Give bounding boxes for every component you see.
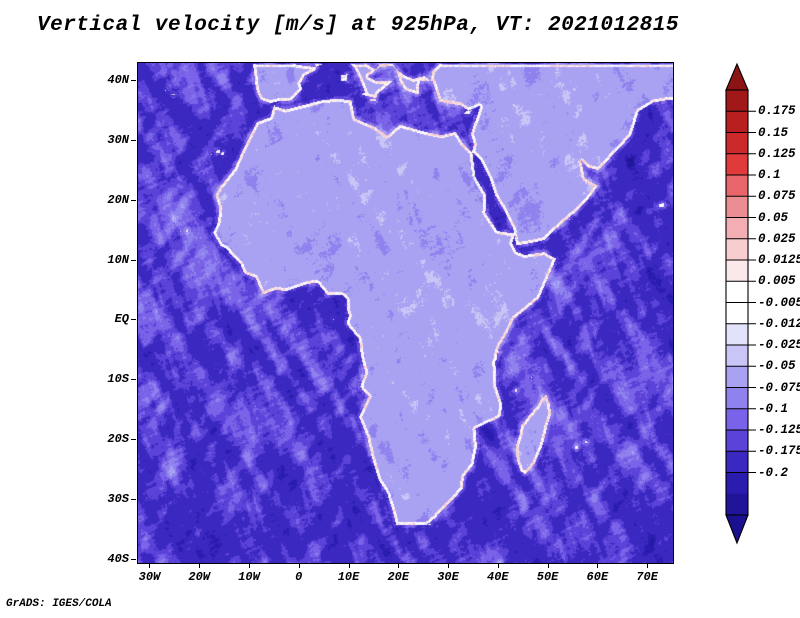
y-axis-label: 30S: [85, 492, 129, 506]
y-axis-label: 30N: [85, 133, 129, 147]
colorbar-label: -0.075: [758, 381, 800, 395]
colorbar-segment: [726, 239, 748, 261]
y-axis-label: 10S: [85, 372, 129, 386]
colorbar-label: -0.175: [758, 444, 800, 458]
colorbar-segment: [726, 451, 748, 473]
colorbar-segment: [726, 133, 748, 155]
x-axis-tick: [249, 563, 250, 568]
y-axis-tick: [131, 200, 136, 201]
x-axis-tick: [199, 563, 200, 568]
x-axis-tick: [398, 563, 399, 568]
x-axis-label: 0: [295, 570, 302, 584]
colorbar-label: -0.2: [758, 466, 788, 480]
colorbar-segment: [726, 111, 748, 133]
colorbar-label: 0.05: [758, 211, 788, 225]
x-axis-label: 60E: [587, 570, 609, 584]
y-axis-tick: [131, 319, 136, 320]
y-axis-tick: [131, 379, 136, 380]
colorbar-label: 0.15: [758, 126, 788, 140]
colorbar-label: 0.0125: [758, 253, 800, 267]
coastline-overlay: [138, 63, 673, 563]
y-axis-tick: [131, 499, 136, 500]
x-axis-label: 70E: [636, 570, 658, 584]
colorbar-label: -0.0125: [758, 317, 800, 331]
y-axis-label: 10N: [85, 253, 129, 267]
x-axis-label: 50E: [537, 570, 559, 584]
x-axis-tick: [597, 563, 598, 568]
colorbar-segment: [726, 218, 748, 240]
x-axis-label: 10W: [238, 570, 260, 584]
y-axis-tick: [131, 439, 136, 440]
colorbar-segment: [726, 196, 748, 218]
colorbar-segment: [726, 324, 748, 346]
colorbar-segment: [726, 303, 748, 325]
y-axis-tick: [131, 80, 136, 81]
colorbar-segment: [726, 388, 748, 410]
colorbar-segment: [726, 260, 748, 282]
x-axis-tick: [647, 563, 648, 568]
colorbar-segment: [726, 409, 748, 431]
colorbar-label: -0.125: [758, 423, 800, 437]
grads-credit: GrADS: IGES/COLA: [6, 598, 112, 610]
colorbar-segment: [726, 281, 748, 303]
x-axis-label: 20E: [387, 570, 409, 584]
y-axis-label: 20S: [85, 432, 129, 446]
x-axis-tick: [498, 563, 499, 568]
x-axis-tick: [299, 563, 300, 568]
x-axis-label: 30W: [139, 570, 161, 584]
colorbar-label: -0.1: [758, 402, 788, 416]
x-axis-tick: [149, 563, 150, 568]
x-axis-label: 30E: [437, 570, 459, 584]
x-axis-tick: [548, 563, 549, 568]
colorbar-label: 0.025: [758, 232, 796, 246]
colorbar-segment: [726, 494, 748, 516]
colorbar-label: 0.005: [758, 274, 796, 288]
y-axis-label: 40S: [85, 552, 129, 566]
x-axis-tick: [349, 563, 350, 568]
colorbar-label: -0.05: [758, 359, 796, 373]
colorbar-segment: [726, 175, 748, 197]
y-axis-tick: [131, 140, 136, 141]
colorbar-label: 0.175: [758, 104, 796, 118]
y-axis-tick: [131, 559, 136, 560]
y-axis-label: 20N: [85, 193, 129, 207]
x-axis-label: 10E: [338, 570, 360, 584]
y-axis-label: EQ: [85, 312, 129, 326]
colorbar-label: -0.005: [758, 296, 800, 310]
y-axis-label: 40N: [85, 73, 129, 87]
colorbar-segment: [726, 345, 748, 367]
colorbar-label: 0.125: [758, 147, 796, 161]
colorbar[interactable]: 0.1750.150.1250.10.0750.050.0250.01250.0…: [722, 60, 800, 560]
colorbar-segment: [726, 90, 748, 112]
colorbar-segment: [726, 430, 748, 452]
colorbar-segment: [726, 154, 748, 176]
page-title: Vertical velocity [m/s] at 925hPa, VT: 2…: [0, 14, 716, 37]
colorbar-label: -0.025: [758, 338, 800, 352]
colorbar-label: 0.1: [758, 168, 781, 182]
x-axis-tick: [448, 563, 449, 568]
x-axis-label: 20W: [188, 570, 210, 584]
colorbar-arrow-down-icon: [726, 515, 748, 543]
y-axis-tick: [131, 260, 136, 261]
x-axis-label: 40E: [487, 570, 509, 584]
map-plot-area[interactable]: [137, 62, 674, 564]
colorbar-label: 0.075: [758, 189, 796, 203]
colorbar-arrow-up-icon: [726, 64, 748, 90]
colorbar-segment: [726, 473, 748, 495]
colorbar-segment: [726, 366, 748, 388]
